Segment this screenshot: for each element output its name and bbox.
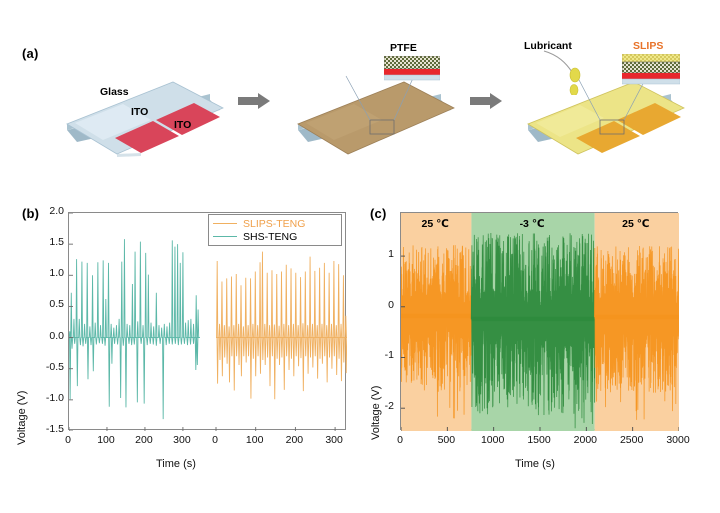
process-arrow-1 — [238, 93, 272, 109]
legend-item-slips: SLIPS-TENG — [213, 217, 336, 230]
panel-c-label: (c) — [370, 206, 387, 221]
panel-a-schematic: (a) Glass ITO ITO — [0, 0, 720, 190]
panel-c-y-tick: 0 — [368, 299, 394, 311]
panel-c-chart: (c) Voltage (V) Time (s) 25 ℃-3 ℃25 ℃ 10… — [360, 190, 720, 513]
panel-b-legend: SLIPS-TENG SHS-TENG — [208, 214, 342, 246]
panel-b-x-tick: 100 — [246, 434, 264, 446]
panel-b-x-tick: 200 — [285, 434, 303, 446]
panel-b-y-axis-label: Voltage (V) — [16, 391, 28, 445]
panel-b-x-tick: 0 — [206, 434, 224, 446]
figure-canvas: (a) Glass ITO ITO — [0, 0, 720, 513]
legend-label-shs: SHS-TENG — [243, 231, 297, 243]
ito-label-right: ITO — [174, 119, 191, 131]
panel-a-label: (a) — [22, 46, 39, 61]
panel-c-x-tick: 1000 — [477, 434, 509, 446]
panel-b-y-tick: 2.0 — [30, 205, 64, 217]
panel-b-x-tick: 0 — [59, 434, 77, 446]
ptfe-inset-stack — [384, 56, 440, 82]
ptfe-layer-stack — [384, 56, 440, 82]
legend-label-slips: SLIPS-TENG — [243, 218, 305, 230]
panel-c-x-tick: 1500 — [523, 434, 555, 446]
panel-c-y-tick: 1 — [368, 248, 394, 260]
panel-b-x-axis-label: Time (s) — [156, 458, 196, 470]
slips-layer-stack — [622, 54, 680, 86]
panel-b-chart: (b) Voltage (V) Time (s) 2.01.51.00.50.0… — [0, 190, 360, 513]
panel-b-x-tick: 300 — [325, 434, 343, 446]
panel-b-y-tick: -1.0 — [30, 392, 64, 404]
zone-label-2: 25 ℃ — [616, 218, 656, 230]
zone-baseline-1 — [471, 317, 594, 321]
zone-label-0: 25 ℃ — [415, 218, 455, 230]
slips-label: SLIPS — [633, 40, 663, 52]
panel-c-x-axis-label: Time (s) — [515, 458, 555, 470]
ito-label-left: ITO — [131, 106, 148, 118]
panel-c-traces — [401, 213, 679, 431]
trace-slips-teng — [216, 252, 347, 400]
trace-shs-teng — [69, 239, 200, 419]
panel-c-plot-area — [400, 212, 678, 430]
panel-c-x-tick: 500 — [430, 434, 462, 446]
lubricant-label: Lubricant — [524, 40, 572, 52]
panel-c-x-tick: 2500 — [616, 434, 648, 446]
zone-baseline-2 — [595, 315, 679, 319]
slips-inset-stack — [622, 54, 680, 86]
lubricant-droplets — [540, 45, 600, 95]
panel-c-y-axis-label: Voltage (V) — [370, 386, 382, 440]
legend-line-shs — [213, 236, 237, 237]
legend-line-slips — [213, 223, 237, 224]
panel-b-y-tick: 0.0 — [30, 330, 64, 342]
panel-c-y-tick: -1 — [368, 349, 394, 361]
panel-c-x-tick: 2000 — [569, 434, 601, 446]
panel-c-y-tick: -2 — [368, 400, 394, 412]
zone-label-1: -3 ℃ — [512, 218, 552, 230]
panel-b-y-tick: 1.0 — [30, 267, 64, 279]
panel-c-x-tick: 0 — [384, 434, 416, 446]
ptfe-label: PTFE — [390, 42, 417, 54]
panel-b-x-tick: 100 — [97, 434, 115, 446]
panel-b-x-tick: 200 — [135, 434, 153, 446]
panel-b-y-tick: 1.5 — [30, 236, 64, 248]
zone-baseline-0 — [401, 314, 471, 318]
glass-label: Glass — [100, 86, 129, 98]
panel-b-y-tick: -0.5 — [30, 361, 64, 373]
panel-b-x-tick: 300 — [173, 434, 191, 446]
panel-c-x-tick: 3000 — [662, 434, 694, 446]
process-arrow-2 — [470, 93, 504, 109]
legend-item-shs: SHS-TENG — [213, 230, 336, 243]
panel-b-y-tick: 0.5 — [30, 298, 64, 310]
